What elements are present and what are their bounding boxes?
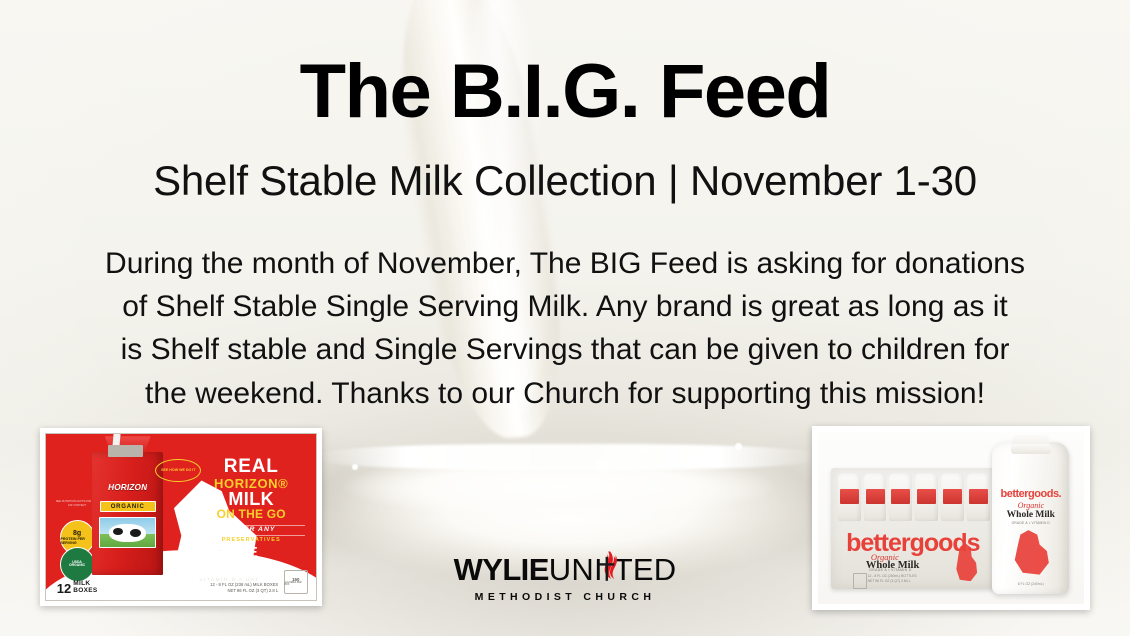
body-line-2: of Shelf Stable Single Serving Milk. Any… (60, 285, 1070, 328)
horizon-claim-block: REAL HORIZON® MILK ON THE GO NEVER ANY P… (197, 457, 305, 544)
bottle-icon (915, 473, 938, 521)
body-copy: During the month of November, The BIG Fe… (60, 242, 1070, 415)
horizon-cow-illustration (99, 517, 156, 548)
horizon-claim-horizon: HORIZON® (197, 477, 305, 490)
church-logo: WYLIE UNI TED METHODIST CHURCH (0, 552, 1130, 603)
bottle-icon (864, 473, 887, 521)
bettergoods-bottle-grade: GRADE A • VITAMIN D (992, 521, 1069, 525)
body-line-3: is Shelf stable and Single Servings that… (60, 328, 1070, 371)
bottle-icon (838, 473, 861, 521)
horizon-claim-on-the-go: ON THE GO (197, 508, 305, 520)
poster-content: The B.I.G. Feed Shelf Stable Milk Collec… (0, 0, 1130, 636)
church-logo-tagline: METHODIST CHURCH (0, 591, 1130, 603)
horizon-brand-wordmark: HORIZON (92, 484, 164, 492)
horizon-protein-text: PROTEIN PER SERVING (61, 538, 94, 546)
logo-word-wylie: WYLIE (454, 554, 549, 585)
page-title: The B.I.G. Feed (0, 54, 1130, 130)
bettergoods-bottles-row (838, 473, 990, 521)
horizon-claim-milk: MILK (197, 490, 305, 508)
bettergoods-bottle-organic: Organic (992, 501, 1069, 510)
umc-cross-and-flame-icon (596, 550, 620, 584)
horizon-organic-banner: ORGANIC (100, 501, 156, 512)
body-line-1: During the month of November, The BIG Fe… (60, 242, 1070, 285)
horizon-see-how-bubble: SEE HOW WE DO IT (155, 459, 201, 482)
logo-word-uni: UNI (549, 554, 603, 585)
church-logo-wordmark: WYLIE UNI TED (454, 552, 677, 586)
horizon-straw-tab (108, 445, 144, 457)
cow-icon (109, 524, 147, 543)
bettergoods-bottle-whole-milk: Whole Milk (992, 510, 1069, 520)
bottle-cap-icon (1011, 444, 1051, 455)
horizon-claim-real: REAL (197, 457, 305, 476)
bettergoods-bottle-brand: bettergoods. (992, 488, 1069, 500)
logo-word-ted: TED (614, 554, 677, 585)
page-subtitle: Shelf Stable Milk Collection | November … (0, 158, 1130, 204)
bottle-icon (889, 473, 912, 521)
bottle-icon (967, 473, 990, 521)
bottle-icon (941, 473, 964, 521)
body-line-4: the weekend. Thanks to our Church for su… (60, 372, 1070, 415)
horizon-claim-preservatives: PRESERVATIVES (197, 538, 305, 544)
horizon-claim-never-any: NEVER ANY (197, 525, 305, 536)
